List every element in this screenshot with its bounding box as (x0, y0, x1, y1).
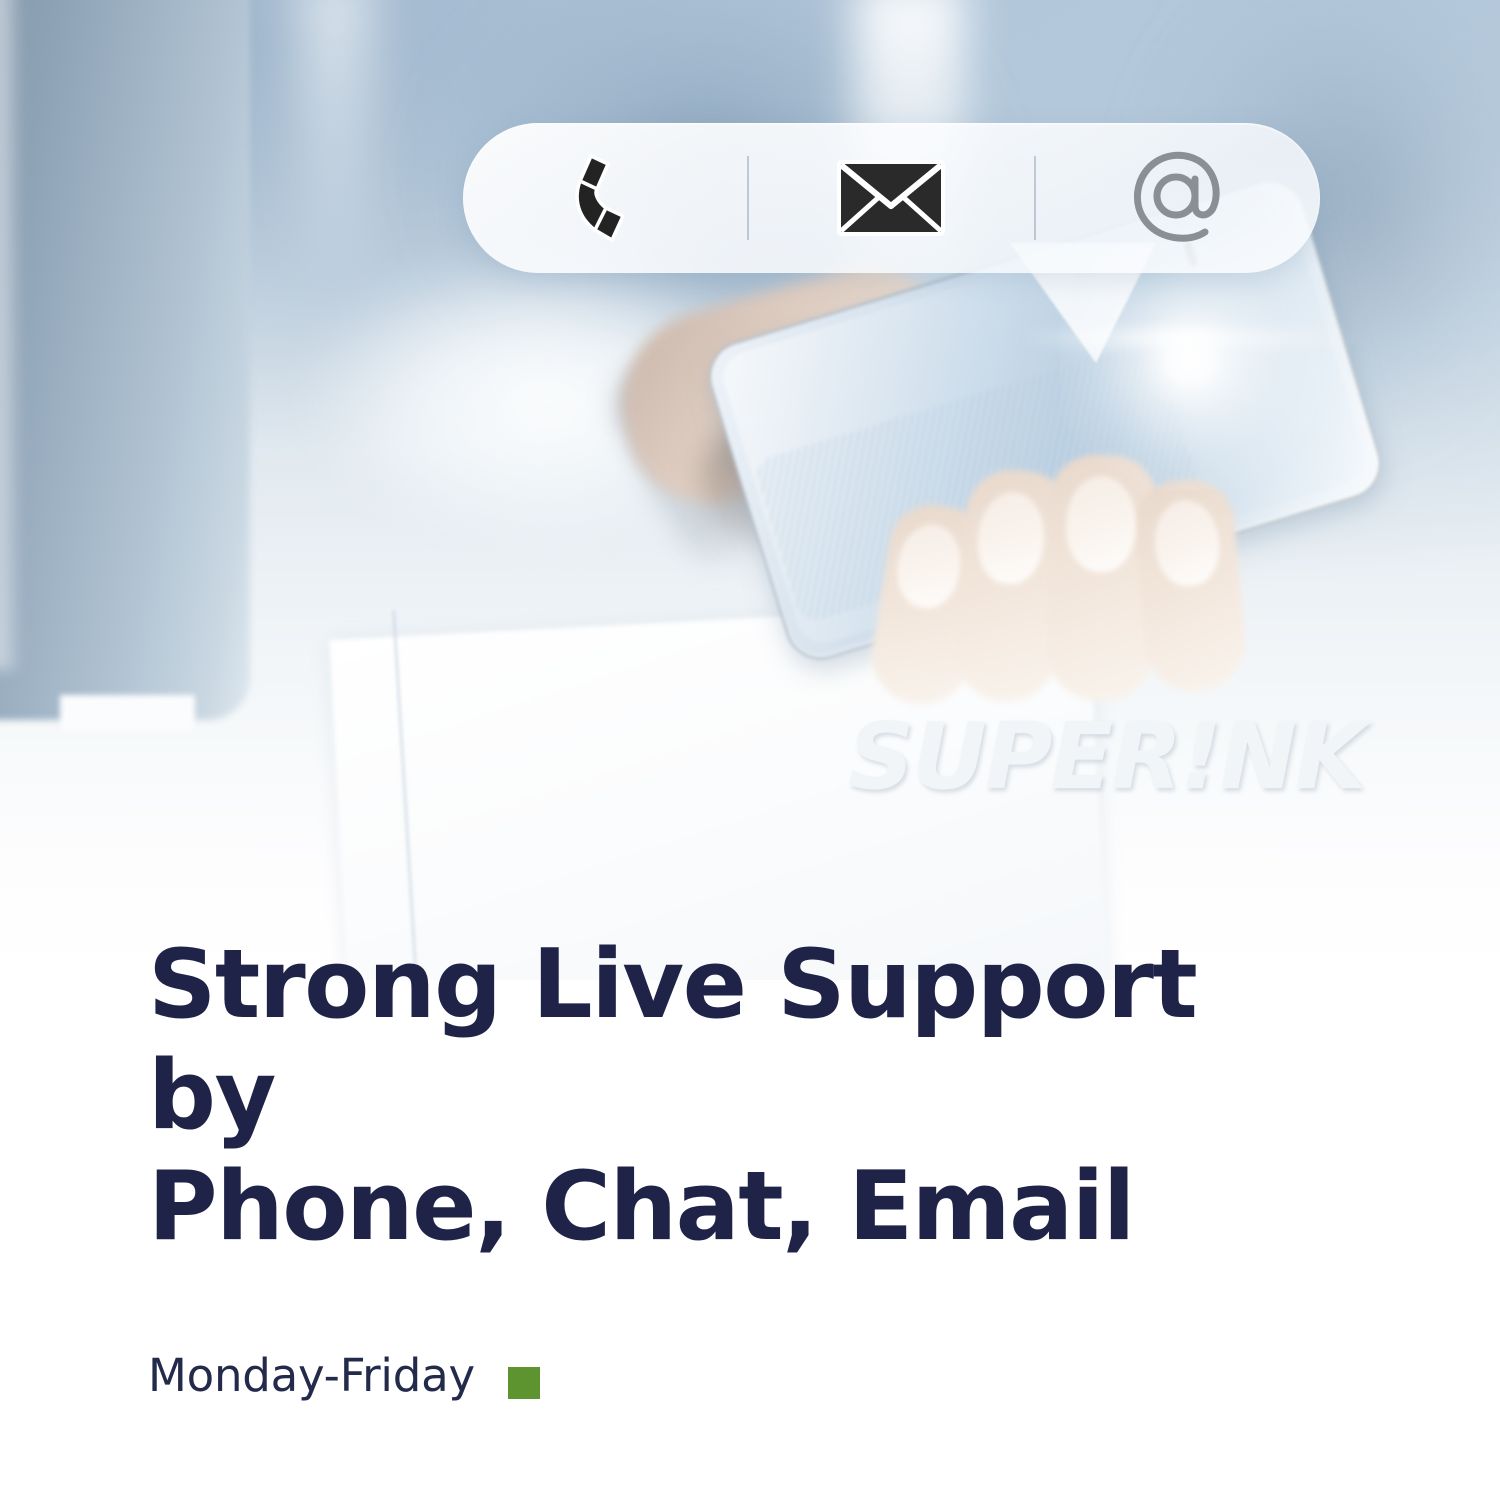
at-sign-icon (1126, 146, 1230, 250)
laptop-sheen (0, 0, 22, 670)
envelope-icon (835, 156, 947, 240)
contact-option-email[interactable] (749, 123, 1033, 273)
content-block: Strong Live Support by Phone, Chat, Emai… (148, 930, 1348, 1402)
contact-option-online[interactable] (1036, 123, 1320, 273)
laptop-body (0, 0, 250, 720)
support-promo-banner: SUPER!NK Strong Live Support by Phone, C… (0, 0, 1500, 1500)
superink-watermark: SUPER!NK (848, 703, 1364, 810)
page-title: Strong Live Support by Phone, Chat, Emai… (148, 930, 1348, 1263)
availability-label: Monday-Friday (148, 1349, 475, 1402)
phone-handset-icon (561, 150, 649, 246)
contact-options-bar (463, 123, 1320, 273)
laptop-foot (60, 695, 195, 731)
contact-option-phone[interactable] (463, 123, 747, 273)
background-window-light-2 (300, 0, 370, 270)
fingernail (1065, 475, 1137, 572)
subtitle-row: Monday-Friday (148, 1349, 1348, 1402)
lens-flare-streak (1020, 330, 1360, 346)
accent-square (508, 1367, 540, 1399)
